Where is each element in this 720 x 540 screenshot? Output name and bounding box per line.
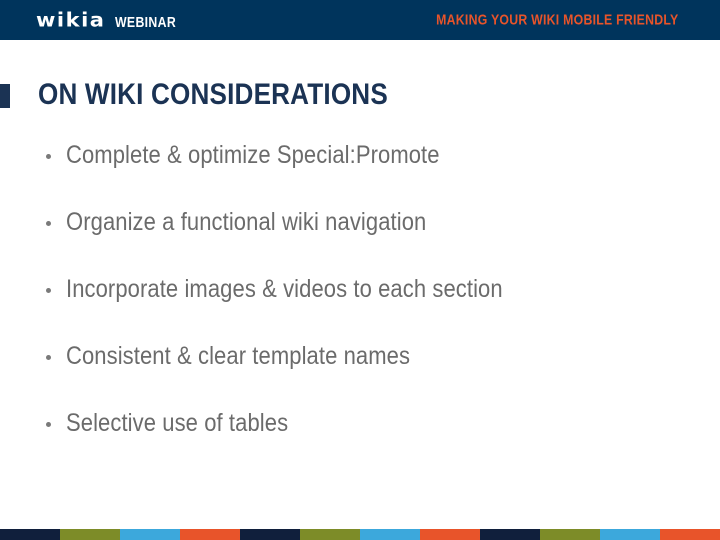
footer-segment-0 xyxy=(0,529,60,540)
bullet-list: Complete & optimize Special:Promote Orga… xyxy=(46,140,686,475)
bullet-dot-icon xyxy=(46,422,51,427)
bullet-dot-icon xyxy=(46,355,51,360)
list-item: Complete & optimize Special:Promote xyxy=(46,140,686,207)
footer-segment-5 xyxy=(300,529,360,540)
footer-segment-10 xyxy=(600,529,660,540)
list-item-label: Organize a functional wiki navigation xyxy=(66,207,426,237)
webinar-label: WEBINAR xyxy=(115,14,176,31)
list-item-label: Complete & optimize Special:Promote xyxy=(66,140,440,170)
header-tagline: MAKING YOUR WIKI MOBILE FRIENDLY xyxy=(436,12,678,29)
footer-segment-11 xyxy=(660,529,720,540)
list-item-label: Consistent & clear template names xyxy=(66,341,410,371)
footer-segment-7 xyxy=(420,529,480,540)
bullet-dot-icon xyxy=(46,154,51,159)
footer-segment-9 xyxy=(540,529,600,540)
footer-segment-8 xyxy=(480,529,540,540)
list-item: Selective use of tables xyxy=(46,408,686,475)
list-item-label: Incorporate images & videos to each sect… xyxy=(66,274,503,304)
header-bar: wikia WEBINAR MAKING YOUR WIKI MOBILE FR… xyxy=(0,0,720,40)
footer-color-strip xyxy=(0,529,720,540)
title-accent-square xyxy=(0,84,10,108)
page-title: ON WIKI CONSIDERATIONS xyxy=(38,78,388,112)
footer-segment-3 xyxy=(180,529,240,540)
footer-segment-6 xyxy=(360,529,420,540)
brand-group: wikia WEBINAR xyxy=(36,10,190,31)
list-item-label: Selective use of tables xyxy=(66,408,288,438)
list-item: Organize a functional wiki navigation xyxy=(46,207,686,274)
footer-segment-4 xyxy=(240,529,300,540)
footer-segment-1 xyxy=(60,529,120,540)
list-item: Incorporate images & videos to each sect… xyxy=(46,274,686,341)
bullet-dot-icon xyxy=(46,288,51,293)
footer-segment-2 xyxy=(120,529,180,540)
list-item: Consistent & clear template names xyxy=(46,341,686,408)
bullet-dot-icon xyxy=(46,221,51,226)
wikia-logo-icon: wikia xyxy=(36,10,105,29)
